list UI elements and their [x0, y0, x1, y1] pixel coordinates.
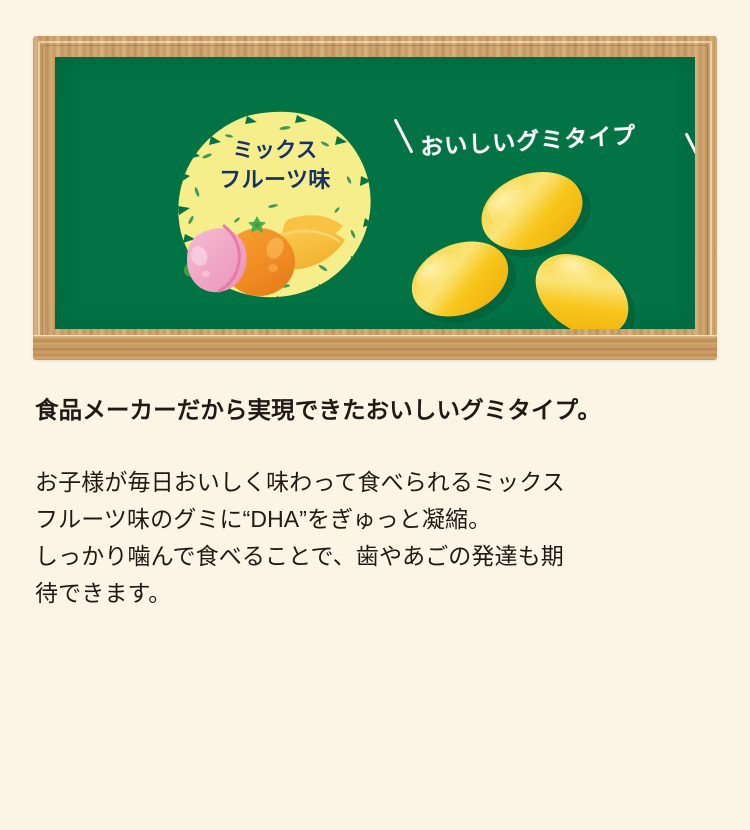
- headline: 食品メーカーだから実現できたおいしいグミタイプ。: [35, 395, 725, 426]
- body-line-1: お子様が毎日おいしく味わって食べられるミックス: [35, 464, 725, 501]
- body-line-2: フルーツ味のグミに“DHA”をぎゅっと凝縮。: [35, 501, 725, 538]
- peach-illustration: [187, 226, 246, 292]
- flavor-badge: ミックス フルーツ味: [177, 110, 373, 298]
- gummy-candies-group: [410, 153, 670, 329]
- body-line-3: しっかり噛んで食べることで、歯やあごの発達も期: [35, 538, 725, 575]
- board-chalk-ledge: [33, 335, 717, 360]
- flavor-badge-text: ミックス フルーツ味: [177, 137, 373, 194]
- copy-block: 食品メーカーだから実現できたおいしいグミタイプ。 お子様が毎日おいしく味わって食…: [35, 395, 725, 613]
- body-copy: お子様が毎日おいしく味わって食べられるミックス フルーツ味のグミに“DHA”をぎ…: [35, 464, 725, 613]
- body-line-4: 待できます。: [35, 575, 725, 612]
- fruit-illustration-group: [179, 200, 375, 300]
- flavor-line-1: ミックス: [177, 137, 373, 165]
- chalkboard-panel: ミックス フルーツ味: [33, 36, 717, 360]
- right-slash-icon: [685, 132, 695, 167]
- left-slash-icon: [394, 118, 414, 153]
- board-green-surface: ミックス フルーツ味: [55, 57, 695, 329]
- flavor-line-2: フルーツ味: [177, 165, 373, 194]
